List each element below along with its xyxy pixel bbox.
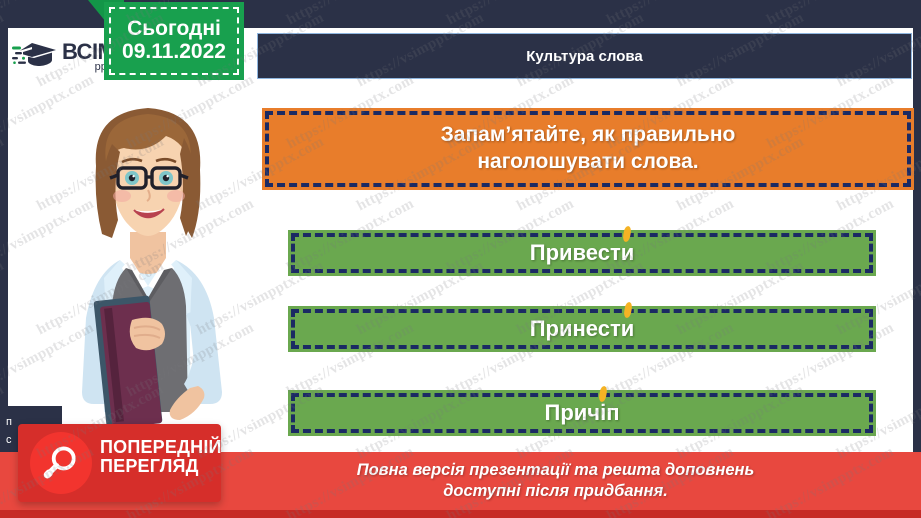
slide-title-bar: Культура слова (257, 33, 912, 79)
word-2-before: Принест (530, 316, 621, 341)
magnifier-icon (30, 432, 92, 494)
word-text-1: Привести (506, 239, 659, 267)
watermark-text: https://vsimpptx.com (0, 0, 97, 29)
purchase-notice-text: Повна версія презентації та решта доповн… (167, 460, 755, 502)
word-1-before: Привест (530, 240, 621, 265)
page-title: Культура слова (526, 48, 642, 65)
word-1-stressed-wrap: и (621, 239, 635, 267)
word-box-1: Привести (288, 230, 876, 276)
word-2-stressed-wrap: и (621, 315, 635, 343)
word-box-2: Принести (288, 306, 876, 352)
watermark-text: https://vsimpptx.com (604, 0, 737, 29)
word-3-before: Прич (545, 400, 601, 425)
preview-badge-line-2: ПЕРЕГЛЯД (100, 457, 222, 476)
word-text-3: Причіп (521, 399, 644, 427)
word-3-after: п (606, 400, 619, 425)
banner-shadow-strip (0, 510, 921, 518)
instruction-line-2: наголошувати слова. (477, 150, 698, 173)
instruction-box: Запам’ятайте, як правильно наголошувати … (262, 108, 914, 190)
preview-badge-line-1: ПОПЕРЕДНІЙ (100, 438, 222, 457)
watermark-text: https://vsimpptx.com (0, 10, 7, 91)
today-date: 09.11.2022 (122, 40, 226, 64)
watermark-text: https://vsimpptx.com (284, 0, 417, 29)
word-text-2: Принести (506, 315, 659, 343)
instruction-line-1: Запам’ятайте, як правильно (441, 123, 736, 146)
word-3-stressed: і (600, 400, 606, 425)
purchase-notice-line-2: доступні після придбання. (443, 482, 668, 500)
today-label: Сьогодні (127, 18, 221, 40)
teacher-illustration (34, 92, 262, 432)
today-date-badge: Сьогодні 09.11.2022 (104, 2, 244, 80)
watermark-text: https://vsimpptx.com (444, 0, 577, 29)
instruction-text: Запам’ятайте, як правильно наголошувати … (417, 122, 760, 176)
graduation-cap-icon (12, 40, 58, 74)
word-1-stressed: и (621, 240, 635, 265)
watermark-text: https://vsimpptx.com (764, 0, 897, 29)
preview-badge[interactable]: ПОПЕРЕДНІЙ ПЕРЕГЛЯД (18, 424, 221, 502)
word-box-3: Причіп (288, 390, 876, 436)
word-2-stressed: и (621, 316, 635, 341)
word-3-stressed-wrap: і (600, 399, 606, 427)
preview-badge-labels: ПОПЕРЕДНІЙ ПЕРЕГЛЯД (100, 438, 222, 477)
watermark-text: https://vsimpptx.com (0, 134, 7, 215)
presentation-slide: ВСІМ pptx Сьогодні 09.11.2022 Культура с… (0, 0, 921, 518)
watermark-text: https://vsimpptx.com (0, 258, 7, 339)
purchase-notice-line-1: Повна версія презентації та решта доповн… (357, 461, 755, 479)
